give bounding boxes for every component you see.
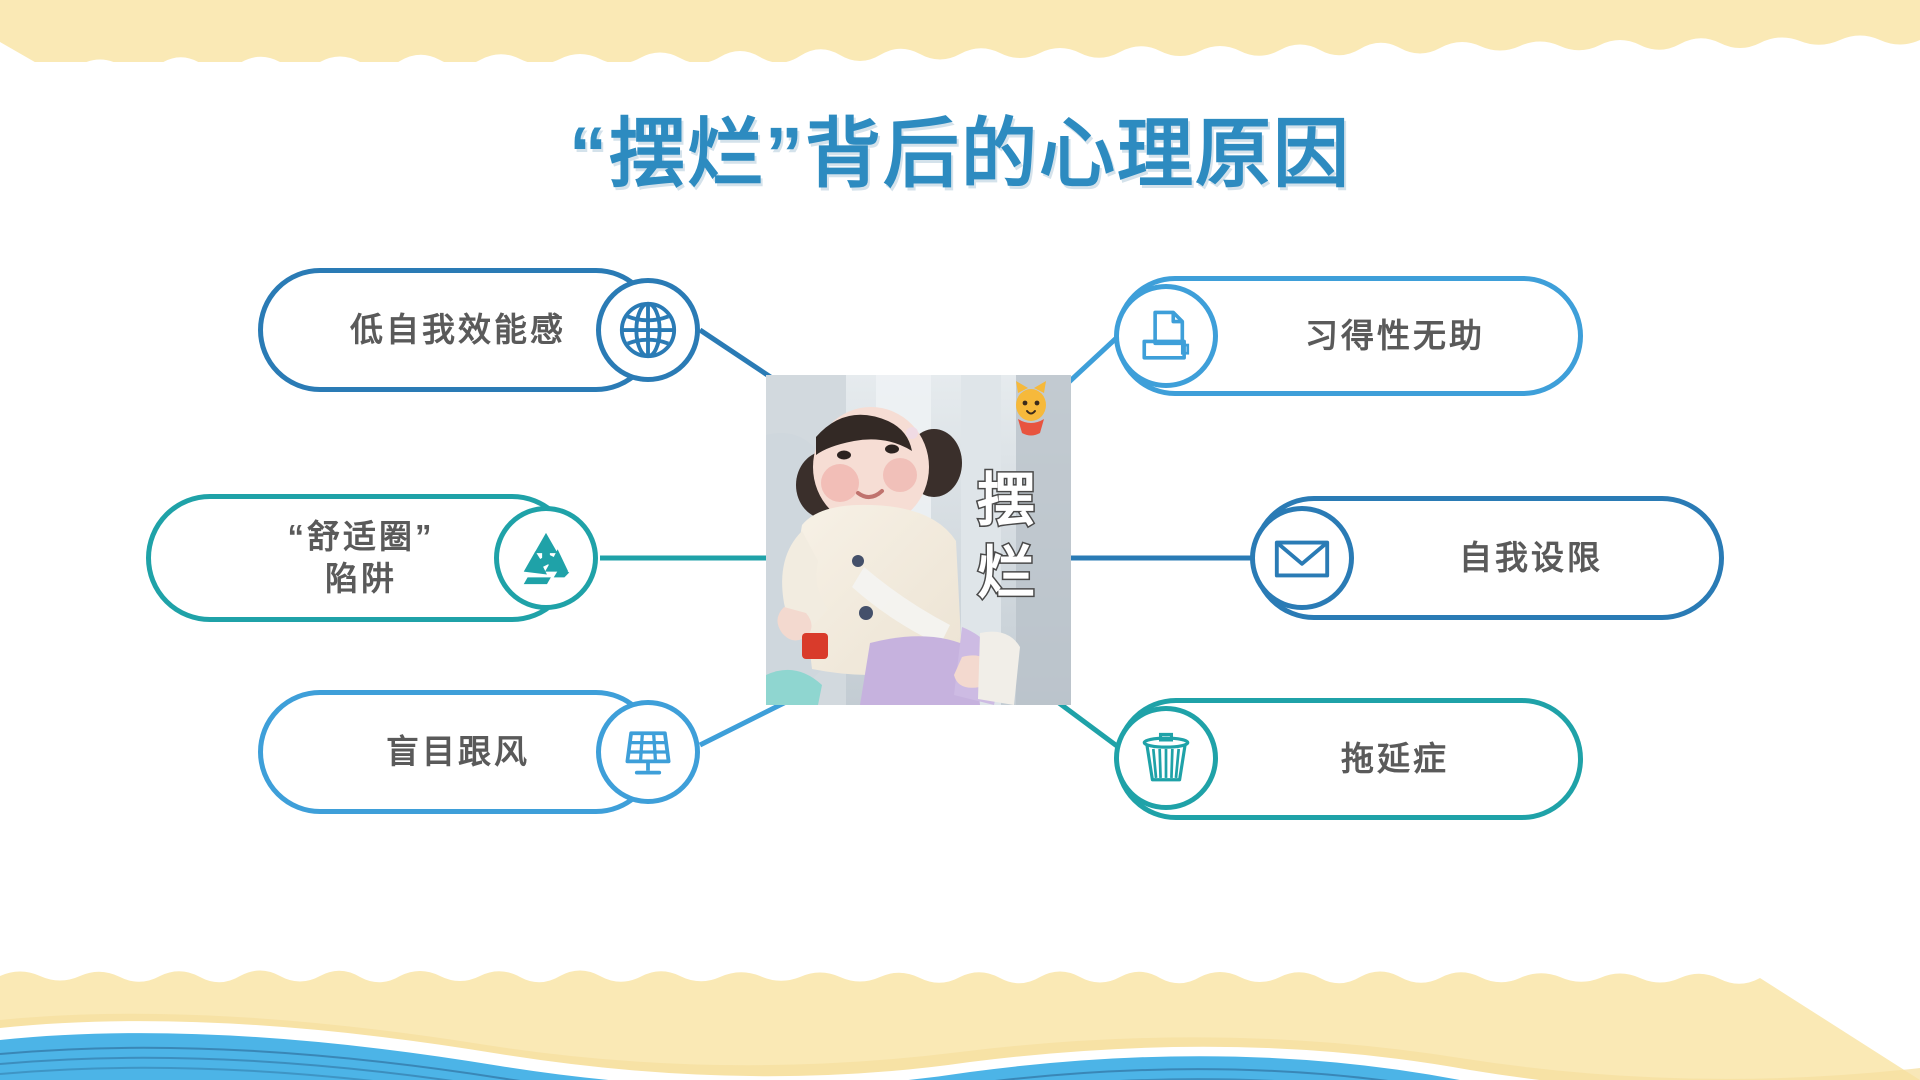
recycle-icon (515, 527, 577, 589)
node-label: 拖延症 (1341, 738, 1449, 780)
recycle-icon-badge[interactable] (494, 506, 598, 610)
svg-text:烂: 烂 (977, 541, 1035, 606)
node-label: 低自我效能感 (350, 309, 566, 351)
globe-icon-badge[interactable] (596, 278, 700, 382)
cat-sticker (1016, 381, 1046, 436)
slide-canvas: “摆烂”背后的心理原因 (0, 0, 1920, 1080)
connector-blind-following (700, 700, 790, 745)
printer-icon (1137, 307, 1195, 365)
bailan-meme-photo: 摆 烂 (766, 375, 1071, 705)
bottom-decorative-band (0, 950, 1920, 1080)
node-label: 盲目跟风 (386, 731, 530, 773)
globe-icon (617, 299, 679, 361)
trash-icon (1137, 729, 1195, 787)
node-label: 自我设限 (1459, 537, 1603, 579)
top-decorative-band (0, 0, 1920, 62)
trash-icon-badge[interactable] (1114, 706, 1218, 810)
svg-text:摆: 摆 (977, 468, 1035, 533)
node-label: 习得性无助 (1305, 315, 1485, 357)
solar-panel-icon (618, 722, 678, 782)
printer-icon-badge[interactable] (1114, 284, 1218, 388)
connector-procrastination (1055, 700, 1125, 752)
envelope-icon-badge[interactable] (1250, 506, 1354, 610)
envelope-icon (1271, 527, 1333, 589)
solar-panel-icon-badge[interactable] (596, 700, 700, 804)
node-label: “舒适圈” 陷阱 (288, 516, 435, 600)
page-title: “摆烂”背后的心理原因 (0, 92, 1920, 202)
